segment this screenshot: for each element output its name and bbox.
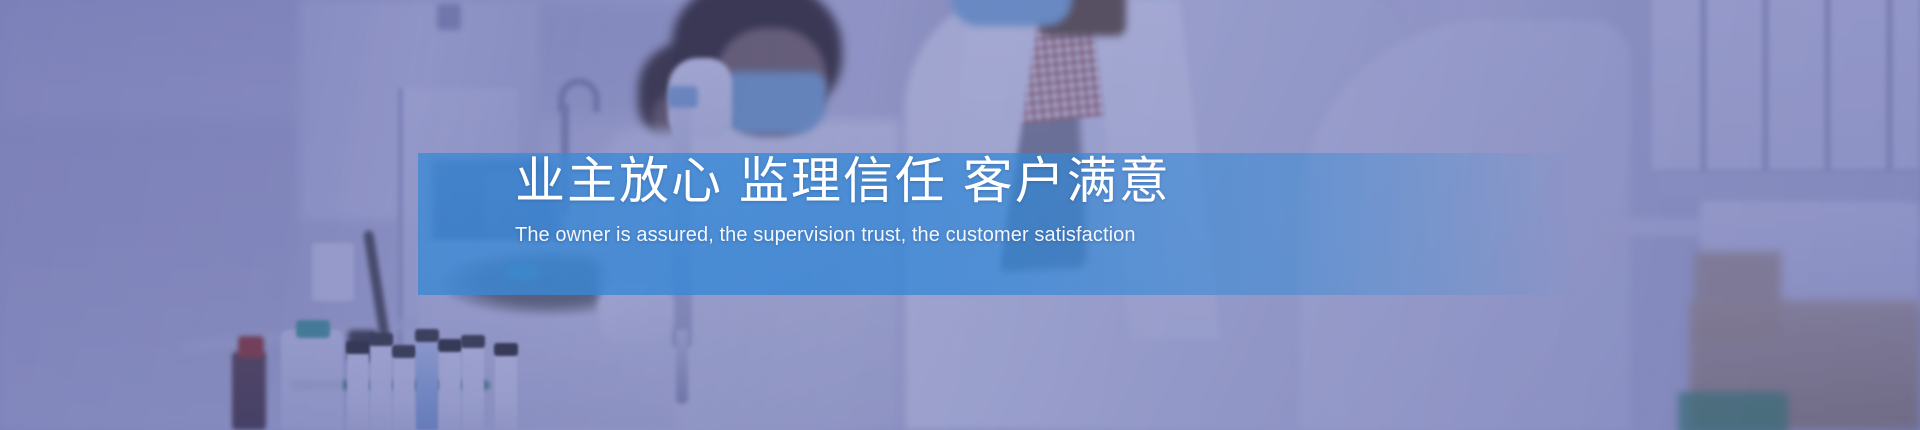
banner-text-block: 业主放心 监理信任 客户满意 The owner is assured, the… — [515, 150, 1495, 250]
banner-subline: The owner is assured, the supervision tr… — [515, 220, 1495, 250]
banner-headline: 业主放心 监理信任 客户满意 — [515, 150, 1495, 212]
hero-banner: 业主放心 监理信任 客户满意 The owner is assured, the… — [0, 0, 1920, 430]
